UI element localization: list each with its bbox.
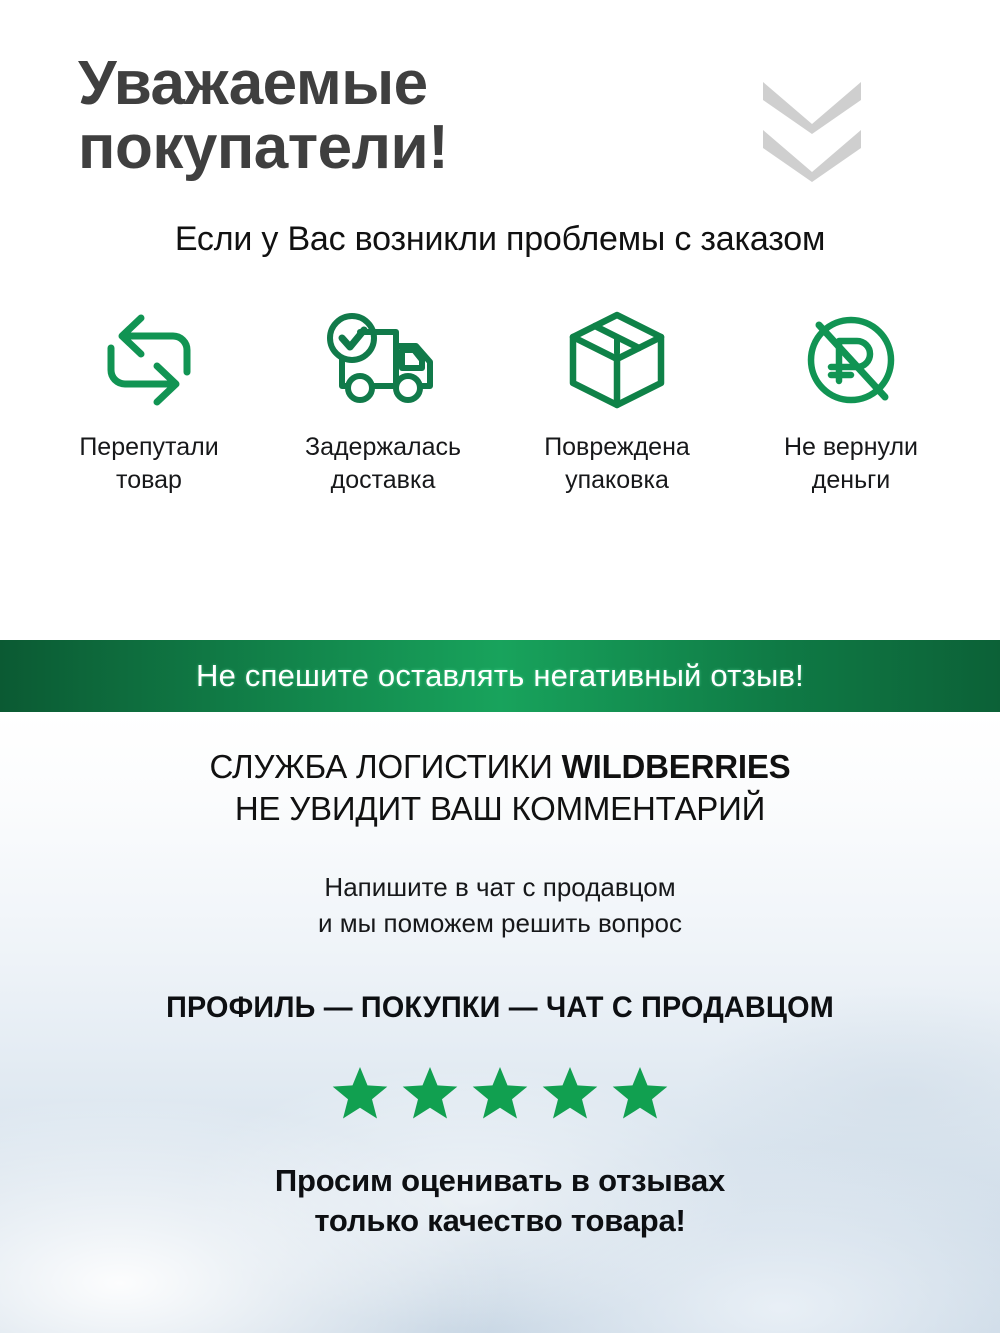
issue-item-damaged-package: Повреждена упаковка: [506, 307, 728, 497]
issue-item-wrong-product: Перепутали товар: [38, 307, 260, 497]
bottom-section: СЛУЖБА ЛОГИСТИКИ WILDBERRIES НЕ УВИДИТ В…: [0, 712, 1000, 1333]
closing-request: Просим оценивать в отзывах только качест…: [0, 1161, 1000, 1242]
subtitle: Если у Вас возникли проблемы с заказом: [0, 220, 1000, 259]
logistics-notice-prefix: СЛУЖБА ЛОГИСТИКИ: [210, 748, 562, 785]
star-filled-icon: [331, 1065, 389, 1121]
issue-label: Перепутали товар: [79, 431, 218, 497]
package-box-icon: [565, 307, 669, 413]
warning-banner-text: Не спешите оставлять негативный отзыв!: [196, 658, 804, 694]
chevron-down-icon-2: [757, 126, 867, 182]
swap-arrows-icon: [97, 307, 201, 413]
navigation-path: ПРОФИЛЬ — ПОКУПКИ — ЧАТ С ПРОДАВЦОМ: [20, 991, 980, 1025]
issue-label: Задержалась доставка: [305, 431, 461, 497]
chat-instruction: Напишите в чат с продавцом и мы поможем …: [0, 870, 1000, 941]
no-ruble-refund-icon: [799, 307, 903, 413]
chevron-double-down-icon: [757, 78, 867, 183]
delivery-truck-check-icon: [320, 307, 446, 413]
star-filled-icon: [541, 1065, 599, 1121]
star-rating: [0, 1065, 1000, 1121]
warning-banner: Не спешите оставлять негативный отзыв!: [0, 640, 1000, 712]
star-filled-icon: [611, 1065, 669, 1121]
issue-item-no-refund: Не вернули деньги: [740, 307, 962, 497]
top-section: Уважаемые покупатели! Если у Вас возникл…: [0, 0, 1000, 640]
issues-list: Перепутали товар: [0, 307, 1000, 497]
logistics-notice: СЛУЖБА ЛОГИСТИКИ WILDBERRIES НЕ УВИДИТ В…: [0, 746, 1000, 830]
issue-label: Не вернули деньги: [784, 431, 918, 497]
star-filled-icon: [401, 1065, 459, 1121]
issue-item-late-delivery: Задержалась доставка: [272, 307, 494, 497]
brand-name: WILDBERRIES: [562, 748, 791, 785]
star-filled-icon: [471, 1065, 529, 1121]
headline-row: Уважаемые покупатели!: [0, 0, 1000, 180]
logistics-notice-suffix: НЕ УВИДИТ ВАШ КОММЕНТАРИЙ: [235, 790, 765, 827]
promo-card: Уважаемые покупатели! Если у Вас возникл…: [0, 0, 1000, 1333]
page-title: Уважаемые покупатели!: [78, 52, 448, 180]
issue-label: Повреждена упаковка: [544, 431, 690, 497]
